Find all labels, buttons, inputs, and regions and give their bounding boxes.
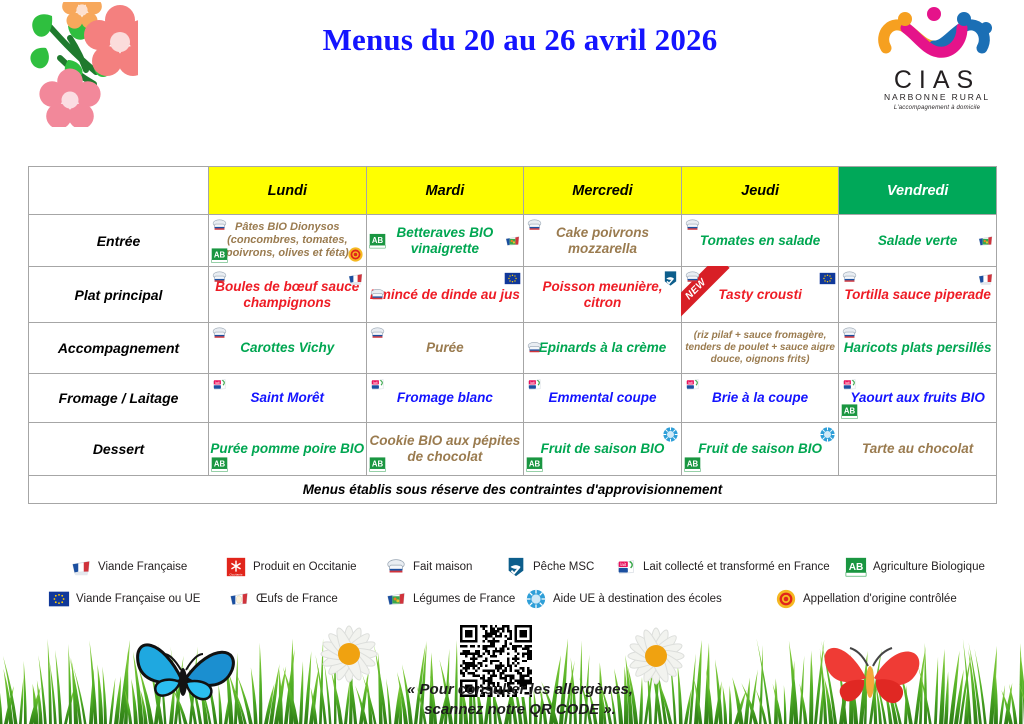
legend-label: Légumes de France	[413, 593, 515, 605]
fait-maison-icon	[211, 269, 228, 286]
agriculture-biologique-icon: AB	[211, 456, 228, 473]
menu-cell-dessert-jeudi: ABFruit de saison BIO	[681, 423, 839, 476]
viande-francaise-icon	[977, 270, 994, 287]
legend-item-viande-francaise-ou-ue: Viande Française ou UE	[48, 588, 200, 610]
menu-cell-fromage-laitage-lundi: laitSaint Morêt	[209, 374, 367, 423]
aide-ue-ecoles-icon	[525, 588, 547, 610]
agriculture-biologique-icon: AB	[841, 403, 858, 420]
menu-cell-plat-principal-mercredi: Poisson meunière, citron	[524, 267, 682, 323]
viande-francaise-ou-ue-icon	[504, 270, 521, 287]
header-day-mercredi: Mercredi	[524, 167, 682, 215]
row-label-accompagnement: Accompagnement	[29, 323, 209, 374]
cias-logo-subtitle: NARBONNE RURAL	[872, 92, 1002, 102]
menu-item-text: Poisson meunière, citron	[524, 279, 681, 311]
menu-item-text: Tomates en salade	[682, 233, 839, 249]
appellation-origine-controlee-icon	[775, 588, 797, 610]
menu-item-text: Salade verte	[839, 233, 996, 249]
svg-text:AB: AB	[687, 460, 699, 469]
svg-text:AB: AB	[844, 407, 856, 416]
svg-text:AB: AB	[214, 460, 226, 469]
header-day-lundi: Lundi	[209, 167, 367, 215]
legend: Viande FrançaiseOccitanieProduit en Occi…	[0, 548, 1024, 618]
fait-maison-icon	[369, 286, 386, 303]
menu-item-text: Carottes Vichy	[209, 340, 366, 356]
weekly-menu-table: Lundi Mardi Mercredi Jeudi Vendredi Entr…	[28, 166, 997, 504]
agriculture-biologique-icon: AB	[845, 556, 867, 578]
viande-francaise-ou-ue-icon	[48, 588, 70, 610]
agriculture-biologique-icon: AB	[211, 247, 228, 264]
appellation-origine-controlee-icon	[347, 246, 364, 263]
menu-item-text: Tortilla sauce piperade	[839, 287, 996, 303]
legend-label: Œufs de France	[256, 593, 338, 605]
menu-item-text: Brie à la coupe	[682, 390, 839, 406]
legend-item-produit-en-occitanie: OccitanieProduit en Occitanie	[225, 556, 357, 578]
menu-row-dessert: DessertABPurée pomme poire BIOABCookie B…	[29, 423, 997, 476]
cias-logo: CIAS NARBONNE RURAL L'accompagnement à d…	[872, 6, 1002, 118]
menu-item-text: Boules de bœuf sauce champignons	[209, 279, 366, 311]
svg-text:lait: lait	[688, 381, 693, 385]
menu-item-text: Purée	[367, 340, 524, 356]
menu-table-body: EntréeABPâtes BIO Dionysos (concombres, …	[29, 215, 997, 476]
legend-item-legumes-de-france: Légumes de France	[385, 588, 515, 610]
lait-collecte-france-icon: lait	[369, 376, 386, 393]
row-label-entree: Entrée	[29, 215, 209, 267]
lait-collecte-france-icon: lait	[841, 376, 858, 393]
header-day-jeudi: Jeudi	[681, 167, 839, 215]
qr-caption: « Pour consulter les allergènes, scannez…	[310, 680, 730, 721]
menu-cell-accompagnement-lundi: Carottes Vichy	[209, 323, 367, 374]
menu-item-text: Fruit de saison BIO	[524, 441, 681, 457]
menu-item-text: Emmental coupe	[524, 390, 681, 406]
svg-text:lait: lait	[530, 381, 535, 385]
lait-collecte-france-icon: lait	[526, 376, 543, 393]
menu-cell-fromage-laitage-jeudi: laitBrie à la coupe	[681, 374, 839, 423]
svg-text:AB: AB	[849, 562, 864, 573]
blue-butterfly-icon	[120, 628, 250, 708]
legend-row-2: Viande Française ou UEŒufs de FranceLégu…	[0, 588, 1024, 618]
header-corner-cell	[29, 167, 209, 215]
aide-ue-ecoles-icon	[662, 426, 679, 443]
menu-cell-accompagnement-mercredi: Epinards à la crème	[524, 323, 682, 374]
produit-en-occitanie-icon: Occitanie	[225, 556, 247, 578]
table-footnote-row: Menus établis sous réserve des contraint…	[29, 476, 997, 504]
cias-logo-tagline: L'accompagnement à domicile	[872, 105, 1002, 111]
menu-cell-plat-principal-vendredi: Tortilla sauce piperade	[839, 267, 997, 323]
lait-collecte-france-icon: lait	[615, 556, 637, 578]
legend-item-peche-msc: Pêche MSC	[505, 556, 594, 578]
menu-cell-accompagnement-vendredi: Haricots plats persillés	[839, 323, 997, 374]
menu-cell-accompagnement-jeudi: (riz pilaf + sauce fromagère, tenders de…	[681, 323, 839, 374]
menu-item-text: Fromage blanc	[367, 390, 524, 406]
fait-maison-icon	[684, 217, 701, 234]
legend-row-1: Viande FrançaiseOccitanieProduit en Occi…	[0, 556, 1024, 586]
viande-francaise-icon	[347, 270, 364, 287]
menu-cell-dessert-lundi: ABPurée pomme poire BIO	[209, 423, 367, 476]
menu-item-text: (riz pilaf + sauce fromagère, tenders de…	[682, 330, 839, 365]
menu-cell-dessert-vendredi: Tarte au chocolat	[839, 423, 997, 476]
menu-cell-dessert-mardi: ABCookie BIO aux pépites de chocolat	[366, 423, 524, 476]
cias-logo-word: CIAS	[872, 66, 1002, 95]
legend-label: Pêche MSC	[533, 561, 594, 573]
fait-maison-icon	[526, 340, 543, 357]
header-day-mardi: Mardi	[366, 167, 524, 215]
legend-item-lait-collecte-france: laitLait collecté et transformé en Franc…	[615, 556, 830, 578]
svg-text:lait: lait	[845, 381, 850, 385]
aide-ue-ecoles-icon	[819, 426, 836, 443]
svg-text:AB: AB	[214, 251, 226, 260]
menu-item-text: Tasty crousti	[682, 287, 839, 303]
legumes-de-france-icon	[977, 232, 994, 249]
viande-francaise-icon	[70, 556, 92, 578]
menu-cell-plat-principal-lundi: Boules de bœuf sauce champignons	[209, 267, 367, 323]
fait-maison-icon	[841, 325, 858, 342]
svg-text:Occitanie: Occitanie	[230, 572, 243, 576]
legend-label: Viande Française	[98, 561, 187, 573]
svg-text:AB: AB	[371, 236, 383, 245]
menu-cell-entree-vendredi: Salade verte	[839, 215, 997, 267]
footnote-text: Menus établis sous réserve des contraint…	[29, 476, 997, 504]
menu-cell-entree-jeudi: Tomates en salade	[681, 215, 839, 267]
agriculture-biologique-icon: AB	[369, 456, 386, 473]
menu-cell-entree-mardi: ABBetteraves BIO vinaigrette	[366, 215, 524, 267]
row-label-plat-principal: Plat principal	[29, 267, 209, 323]
header-day-vendredi: Vendredi	[839, 167, 997, 215]
lait-collecte-france-icon: lait	[211, 376, 228, 393]
oeufs-de-france-icon	[228, 588, 250, 610]
agriculture-biologique-icon: AB	[369, 232, 386, 249]
legend-item-fait-maison: Fait maison	[385, 556, 472, 578]
menu-cell-fromage-laitage-mardi: laitFromage blanc	[366, 374, 524, 423]
legend-item-viande-francaise: Viande Française	[70, 556, 187, 578]
legend-item-aide-ue-ecoles: Aide UE à destination des écoles	[525, 588, 722, 610]
menu-item-text: Haricots plats persillés	[839, 340, 996, 356]
menu-item-text: Tarte au chocolat	[839, 441, 996, 457]
menu-cell-accompagnement-mardi: Purée	[366, 323, 524, 374]
menu-item-text: Yaourt aux fruits BIO	[839, 390, 996, 406]
menu-item-text: Emincé de dinde au jus	[367, 287, 524, 303]
menu-cell-dessert-mercredi: ABFruit de saison BIO	[524, 423, 682, 476]
legend-label: Lait collecté et transformé en France	[643, 561, 830, 573]
menu-item-text: Saint Morêt	[209, 390, 366, 406]
menu-cell-entree-lundi: ABPâtes BIO Dionysos (concombres, tomate…	[209, 215, 367, 267]
agriculture-biologique-icon: AB	[526, 456, 543, 473]
menu-item-text: Pâtes BIO Dionysos (concombres, tomates,…	[209, 221, 366, 260]
fait-maison-icon	[211, 217, 228, 234]
viande-francaise-ou-ue-icon	[819, 270, 836, 287]
svg-text:lait: lait	[373, 381, 378, 385]
table-header-row: Lundi Mardi Mercredi Jeudi Vendredi	[29, 167, 997, 215]
menu-item-text: Betteraves BIO vinaigrette	[367, 225, 524, 257]
menu-cell-plat-principal-jeudi: NEWTasty crousti	[681, 267, 839, 323]
menu-row-plat-principal: Plat principalBoules de bœuf sauce champ…	[29, 267, 997, 323]
fait-maison-icon	[841, 269, 858, 286]
menu-row-fromage-laitage: Fromage / LaitagelaitSaint MorêtlaitFrom…	[29, 374, 997, 423]
legumes-de-france-icon	[385, 588, 407, 610]
menu-cell-entree-mercredi: Cake poivrons mozzarella	[524, 215, 682, 267]
svg-text:lait: lait	[620, 562, 627, 567]
lait-collecte-france-icon: lait	[684, 376, 701, 393]
fait-maison-icon	[385, 556, 407, 578]
legend-item-appellation-origine-controlee: Appellation d'origine contrôlée	[775, 588, 957, 610]
svg-text:AB: AB	[529, 460, 541, 469]
menu-cell-fromage-laitage-mercredi: laitEmmental coupe	[524, 374, 682, 423]
legend-label: Viande Française ou UE	[76, 593, 200, 605]
fait-maison-icon	[684, 269, 701, 286]
legend-item-oeufs-de-france: Œufs de France	[228, 588, 338, 610]
peche-msc-icon	[662, 270, 679, 287]
legend-label: Fait maison	[413, 561, 472, 573]
qr-caption-line-1: « Pour consulter les allergènes,	[310, 680, 730, 700]
svg-text:AB: AB	[371, 460, 383, 469]
menu-item-text: Cookie BIO aux pépites de chocolat	[367, 433, 524, 465]
legend-item-agriculture-biologique: ABAgriculture Biologique	[845, 556, 985, 578]
legend-label: Produit en Occitanie	[253, 561, 357, 573]
legumes-de-france-icon	[504, 232, 521, 249]
fait-maison-icon	[211, 325, 228, 342]
menu-item-text: Purée pomme poire BIO	[209, 441, 366, 457]
legend-label: Agriculture Biologique	[873, 561, 985, 573]
flower-branch-icon	[8, 2, 138, 127]
menu-cell-plat-principal-mardi: Emincé de dinde au jus	[366, 267, 524, 323]
page-title: Menus du 20 au 26 avril 2026	[200, 22, 840, 58]
agriculture-biologique-icon: AB	[684, 456, 701, 473]
peche-msc-icon	[505, 556, 527, 578]
fait-maison-icon	[369, 325, 386, 342]
qr-caption-line-2: scannez notre QR CODE ».	[310, 700, 730, 720]
menu-item-text: Fruit de saison BIO	[682, 441, 839, 457]
legend-label: Aide UE à destination des écoles	[553, 593, 722, 605]
row-label-fromage-laitage: Fromage / Laitage	[29, 374, 209, 423]
menu-cell-fromage-laitage-vendredi: laitABYaourt aux fruits BIO	[839, 374, 997, 423]
svg-text:lait: lait	[215, 381, 220, 385]
menu-row-entree: EntréeABPâtes BIO Dionysos (concombres, …	[29, 215, 997, 267]
menu-item-text: Epinards à la crème	[524, 340, 681, 356]
row-label-dessert: Dessert	[29, 423, 209, 476]
menu-item-text: Cake poivrons mozzarella	[524, 225, 681, 257]
menu-row-accompagnement: AccompagnementCarottes VichyPuréeEpinard…	[29, 323, 997, 374]
fait-maison-icon	[526, 217, 543, 234]
page-header: Menus du 20 au 26 avril 2026 CIAS NARBON…	[0, 0, 1024, 150]
legend-label: Appellation d'origine contrôlée	[803, 593, 957, 605]
red-butterfly-icon	[800, 630, 940, 710]
